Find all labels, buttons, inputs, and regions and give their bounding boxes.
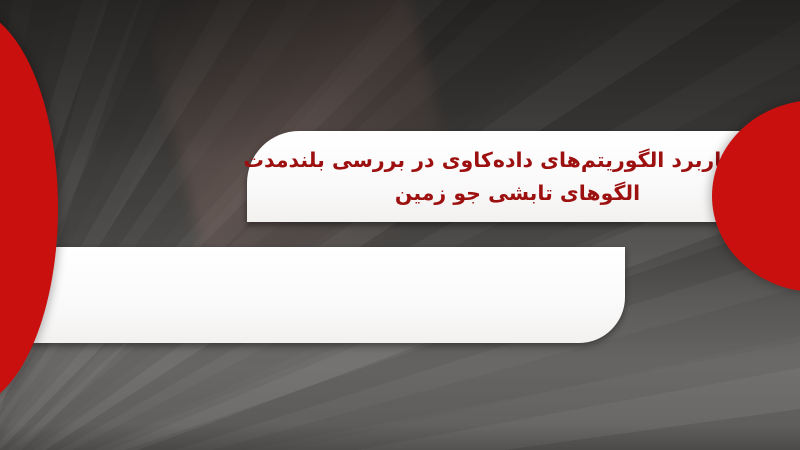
subtitle-text: [10, 247, 610, 343]
title-line-1: کامل کاربرد الگوریتم‌های داده‌کاوی در بر…: [243, 144, 791, 176]
background-bottom-shade: [0, 424, 800, 450]
slide-title: کامل کاربرد الگوریتم‌های داده‌کاوی در بر…: [247, 131, 788, 222]
title-slide: کامل کاربرد الگوریتم‌های داده‌کاوی در بر…: [0, 0, 800, 450]
title-line-2: الگوهای تابشی جو زمین: [395, 177, 640, 209]
